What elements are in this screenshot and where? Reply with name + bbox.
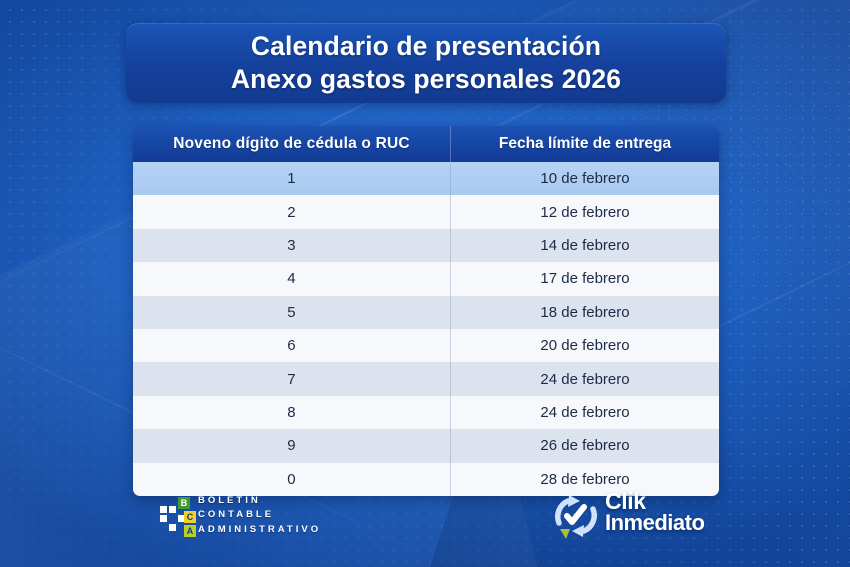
arrow-head-bottom xyxy=(572,525,584,537)
cell-deadline: 24 de febrero xyxy=(450,362,719,395)
cell-deadline: 24 de febrero xyxy=(450,396,719,429)
table-row: 314 de febrero xyxy=(133,229,719,262)
column-header-deadline: Fecha límite de entrega xyxy=(450,126,719,162)
logo-square-white xyxy=(160,515,167,522)
clik-wordmark: Clik Inmediato xyxy=(605,490,704,534)
logo-square-white xyxy=(169,506,176,513)
check-mark xyxy=(567,507,584,522)
table-body: 110 de febrero212 de febrero314 de febre… xyxy=(133,162,719,496)
cell-digit: 6 xyxy=(133,329,450,362)
table-row: 620 de febrero xyxy=(133,329,719,362)
cell-deadline: 14 de febrero xyxy=(450,229,719,262)
cell-deadline: 20 de febrero xyxy=(450,329,719,362)
cell-deadline: 18 de febrero xyxy=(450,296,719,329)
cell-digit: 3 xyxy=(133,229,450,262)
logo-square-white xyxy=(160,506,167,513)
cell-digit: 9 xyxy=(133,429,450,462)
cell-deadline: 12 de febrero xyxy=(450,195,719,228)
schedule-table: Noveno dígito de cédula o RUC Fecha lími… xyxy=(133,126,719,496)
refresh-check-icon xyxy=(548,489,604,543)
cell-digit: 5 xyxy=(133,296,450,329)
title-banner: Calendario de presentación Anexo gastos … xyxy=(126,23,726,103)
cell-digit: 4 xyxy=(133,262,450,295)
table-row: 926 de febrero xyxy=(133,429,719,462)
cell-deadline: 10 de febrero xyxy=(450,162,719,195)
logo-accent-leaf xyxy=(560,529,570,539)
clik-word-clik: Clik xyxy=(605,490,704,512)
clik-inmediato-logo: Clik Inmediato xyxy=(548,488,718,544)
table-row: 212 de febrero xyxy=(133,195,719,228)
table-header-row: Noveno dígito de cédula o RUC Fecha lími… xyxy=(133,126,719,162)
bca-logo-wordmark: BOLETÍN CONTABLE ADMINISTRATIVO xyxy=(184,494,321,537)
cell-deadline: 26 de febrero xyxy=(450,429,719,462)
clik-word-inmediato: Inmediato xyxy=(605,512,704,534)
table-row: 417 de febrero xyxy=(133,262,719,295)
table-row: 824 de febrero xyxy=(133,396,719,429)
logo-square-white xyxy=(169,524,176,531)
bca-word-contable: CONTABLE xyxy=(184,508,321,522)
table-row: 724 de febrero xyxy=(133,362,719,395)
arrow-head-top xyxy=(568,495,580,507)
table-row: 518 de febrero xyxy=(133,296,719,329)
bca-word-administrativo: ADMINISTRATIVO xyxy=(184,523,321,537)
cell-digit: 2 xyxy=(133,195,450,228)
bca-word-boletin: BOLETÍN xyxy=(184,494,321,508)
cell-digit: 1 xyxy=(133,162,450,195)
column-header-digit: Noveno dígito de cédula o RUC xyxy=(133,126,450,162)
table-header: Noveno dígito de cédula o RUC Fecha lími… xyxy=(133,126,719,162)
cell-digit: 0 xyxy=(133,463,450,496)
table-row: 110 de febrero xyxy=(133,162,719,195)
cell-digit: 7 xyxy=(133,362,450,395)
title-line-2: Anexo gastos personales 2026 xyxy=(231,63,621,96)
bca-logo: B C A BOLETÍN CONTABLE ADMINISTRATIVO xyxy=(160,494,370,542)
title-line-1: Calendario de presentación xyxy=(251,30,601,63)
cell-digit: 8 xyxy=(133,396,450,429)
cell-deadline: 17 de febrero xyxy=(450,262,719,295)
